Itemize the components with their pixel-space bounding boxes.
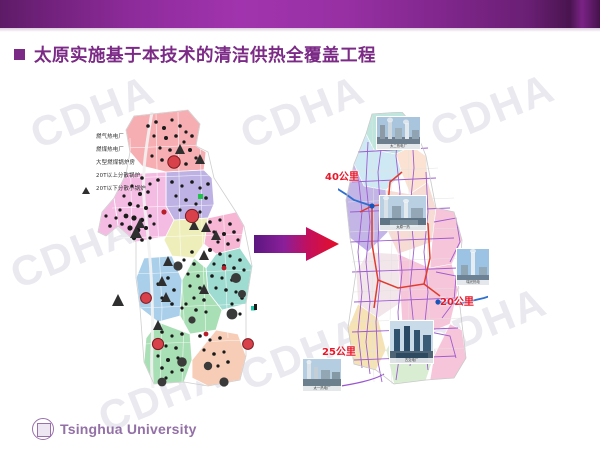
distance-label-40km: 40公里 [325, 168, 359, 183]
slide-top-banner [0, 0, 600, 28]
photo-caption: 瑞光热电 [457, 280, 489, 285]
circle-red-icon [82, 144, 91, 153]
plant-photo-ruiguang: 瑞光热电 [456, 248, 490, 286]
square-bullet-icon [14, 49, 25, 60]
pipeline-node [369, 203, 374, 208]
plant-photo-taiyuan-first: 太原一热 [379, 195, 427, 231]
legend-item-boiler-over-20t: 20T以上分散锅炉 [82, 169, 146, 180]
legend-label: 20T以上分散锅炉 [96, 171, 140, 179]
circle-dark-icon [82, 157, 91, 166]
slide-canvas: CDHACDHACDHACDHACDHACDHACDHA 太原实施基于本技术的清… [0, 0, 600, 450]
legend-item-small-boiler: 20T以下分散小锅炉 [82, 182, 146, 193]
legend-label: 燃煤热电厂 [96, 145, 124, 153]
plant-photo-gujiao: 古交电厂 [389, 320, 434, 364]
transform-arrow-svg [254, 226, 340, 262]
branch-to-plant [338, 374, 384, 388]
photo-caption: 太原一热 [380, 225, 426, 230]
footer-branding: Tsinghua University [32, 418, 197, 440]
legend-label: 燃气热电厂 [96, 132, 124, 140]
transform-arrow [254, 226, 340, 262]
dot-small-icon [82, 183, 91, 192]
triangle-dark-icon [82, 170, 91, 179]
legend-label: 20T以下分散小锅炉 [96, 184, 146, 192]
photo-caption: 古交电厂 [390, 358, 433, 363]
footer-text: Tsinghua University [60, 421, 197, 437]
photo-caption: 太二热电厂 [377, 144, 420, 149]
tsinghua-seal-icon [32, 418, 54, 440]
legend-item-gas-chp: 燃气热电厂 [82, 130, 146, 141]
slide-banner-shadow [0, 28, 600, 32]
photo-caption: 太一热电厂 [303, 386, 341, 391]
legend-item-coal-chp: 燃煤热电厂 [82, 143, 146, 154]
circle-blue-icon [82, 131, 91, 140]
map-legend: 燃气热电厂 燃煤热电厂 大型燃煤锅炉房 20T以上分散锅炉 20T以下分散小锅炉 [82, 130, 146, 195]
distance-label-25km: 25公里 [322, 343, 356, 358]
page-title: 太原实施基于本技术的清洁供热全覆盖工程 [14, 42, 376, 67]
page-title-text: 太原实施基于本技术的清洁供热全覆盖工程 [34, 42, 376, 67]
legend-label: 大型燃煤锅炉房 [96, 158, 135, 166]
distance-label-20km: 20公里 [440, 293, 474, 308]
plant-photo-taier: 太二热电厂 [376, 116, 421, 150]
legend-item-large-boiler: 大型燃煤锅炉房 [82, 156, 146, 167]
plant-photo-taiyi: 太一热电厂 [302, 358, 342, 392]
